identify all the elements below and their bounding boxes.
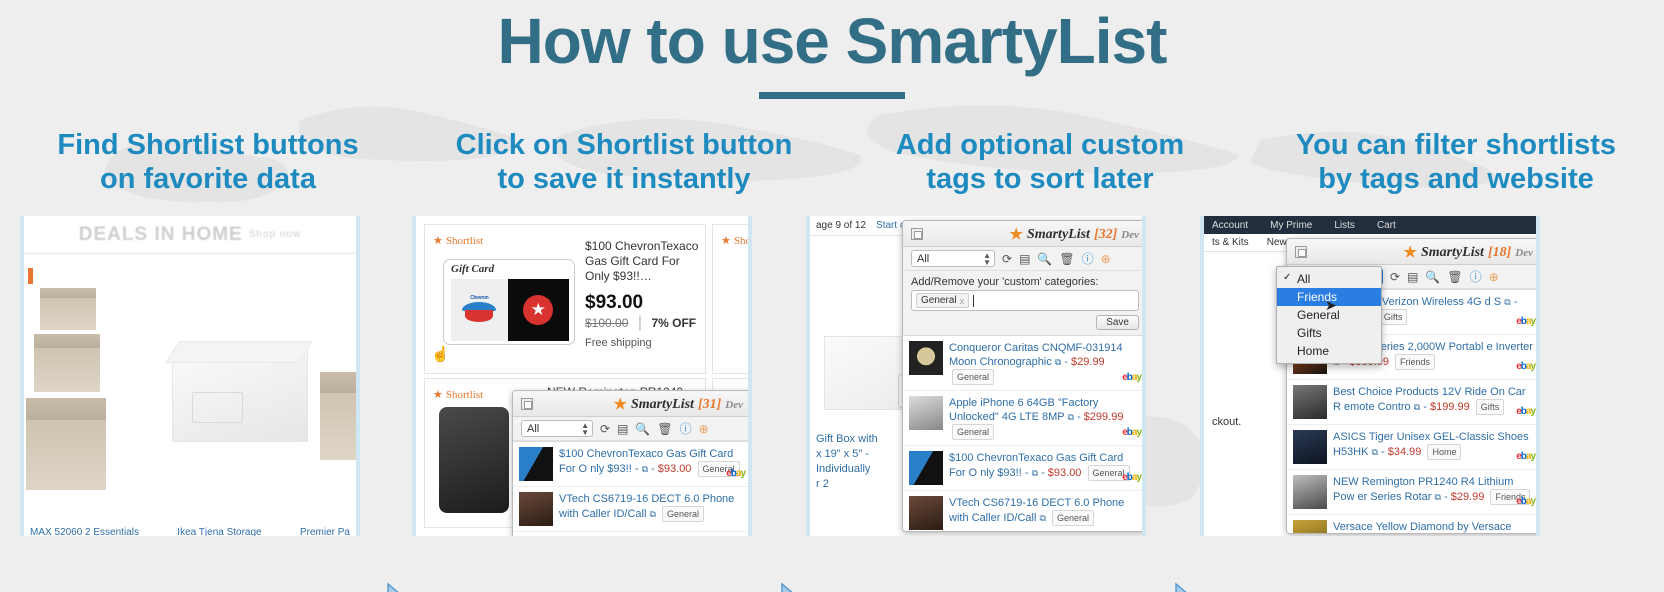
item-category: Gifts bbox=[1476, 399, 1505, 415]
brand-count: [18] bbox=[1488, 245, 1511, 261]
star-icon: ★ bbox=[1403, 243, 1416, 262]
external-link-icon[interactable]: ⧉ bbox=[1039, 513, 1045, 523]
close-icon[interactable]: x bbox=[960, 296, 965, 306]
trash-icon[interactable]: 🗑 bbox=[1447, 270, 1462, 284]
dropdown-item-home[interactable]: Home bbox=[1277, 342, 1381, 360]
shortlist-label: Shortlist bbox=[446, 389, 483, 401]
product-labels: MAX 52060 2 Essentials Ikea Tjena Storag… bbox=[24, 527, 356, 536]
star-icon: ★ bbox=[721, 234, 731, 247]
item-thumbnail bbox=[1293, 430, 1327, 464]
item-title-line2: H53HK bbox=[1333, 446, 1368, 458]
star-icon: ★ bbox=[433, 234, 443, 247]
step-2-line1: Click on Shortlist button bbox=[456, 129, 793, 161]
item-price: $34.99 bbox=[1388, 446, 1422, 458]
dropdown-label: All bbox=[1297, 272, 1310, 286]
external-link-icon[interactable]: ⧉ bbox=[1055, 357, 1061, 367]
refresh-icon[interactable]: ⟳ bbox=[600, 422, 610, 436]
category-filter-select[interactable]: All ▲▼ bbox=[521, 420, 593, 437]
check-icon: ✓ bbox=[1283, 272, 1291, 283]
item-category: General bbox=[1052, 510, 1094, 526]
brand-dev-tag: Dev bbox=[1121, 229, 1139, 241]
refresh-icon[interactable]: ⟳ bbox=[1002, 252, 1012, 266]
star-icon: ★ bbox=[613, 395, 626, 414]
item-title-line2: Caller ID/Call bbox=[972, 512, 1037, 524]
ebay-logo: ebay bbox=[1516, 496, 1535, 507]
panel3-description: Gift Box with x 19" x 5" - Individually … bbox=[816, 432, 878, 492]
item-title-line1: Versace Yellow Diamond by Versace 0.17 bbox=[1333, 521, 1512, 534]
filter-value: All bbox=[527, 423, 539, 435]
brand-count: [31] bbox=[698, 397, 721, 413]
shortlist-button-3[interactable]: ★ Shortlist bbox=[433, 385, 483, 403]
page-title: How to use SmartyList bbox=[0, 4, 1664, 78]
item-thumbnail bbox=[909, 496, 943, 530]
shortlist-button-2[interactable]: ★ Shortlist bbox=[721, 231, 752, 249]
list-item[interactable]: $100 ChevronTexaco Gas Gift Card For O n… bbox=[513, 442, 751, 487]
window-restore-icon[interactable] bbox=[911, 228, 923, 240]
list-item[interactable]: Conqueror Caritas CNQMF-031914 Moon Chro… bbox=[903, 336, 1146, 391]
external-link-icon[interactable]: ⧉ bbox=[1032, 468, 1038, 478]
item-price: $29.99 bbox=[1451, 491, 1485, 503]
listing-card-1: ★ Shortlist Gift Card Chevron bbox=[424, 224, 706, 374]
item-thumbnail bbox=[519, 492, 553, 526]
subnav-kits[interactable]: ts & Kits bbox=[1212, 237, 1249, 248]
item-price: $93.00 bbox=[1048, 467, 1082, 479]
banner-cta: Shop now bbox=[249, 229, 301, 240]
nav-lists[interactable]: Lists bbox=[1334, 220, 1355, 231]
gift-card-label: Gift Card bbox=[444, 260, 574, 275]
ebay-logo: ebay bbox=[1122, 427, 1141, 438]
brand-name: SmartyList bbox=[1027, 227, 1090, 243]
list-item[interactable]: NEW Remington PR1240 R4 Lithium Pow er S… bbox=[1287, 470, 1540, 515]
chevron-updown-icon: ▲▼ bbox=[581, 422, 589, 436]
brand-name: SmartyList bbox=[631, 397, 694, 413]
external-link-icon[interactable]: ⧉ bbox=[1067, 412, 1073, 422]
shaver-image bbox=[439, 407, 509, 513]
listing-discount: 7% OFF bbox=[651, 316, 696, 330]
star-icon: ★ bbox=[1009, 225, 1022, 244]
item-thumbnail bbox=[909, 451, 943, 485]
item-price: $93.00 bbox=[658, 463, 692, 475]
list-item[interactable]: Canon EOS Rebel T5 Digital SLR Camer bbox=[513, 532, 751, 536]
texaco-logo: ★ bbox=[508, 279, 569, 341]
popup-toolbar: All ▲▼ ⟳ ▤ 🔍 🗑 ⓘ ⊕ bbox=[513, 417, 751, 441]
smartylist-brand: ★ SmartyList[32] Dev bbox=[1009, 225, 1139, 244]
custom-categories-note: Add/Remove your 'custom' categories: bbox=[903, 271, 1146, 290]
store-banner: DEALS IN HOME Shop now bbox=[24, 216, 356, 254]
desc-line-4: r 2 bbox=[816, 477, 878, 492]
nav-account[interactable]: Account bbox=[1212, 220, 1248, 231]
item-price: $199.99 bbox=[1430, 401, 1470, 413]
item-title-line2: Caller ID/Call bbox=[582, 508, 647, 520]
step-heading-4: You can filter shortlists by tags and we… bbox=[1248, 128, 1664, 204]
item-category: General bbox=[952, 424, 994, 440]
list-item[interactable]: ASICS Tiger Unisex GEL-Classic Shoes H53… bbox=[1287, 425, 1540, 470]
title-divider bbox=[759, 92, 905, 99]
item-thumbnail bbox=[1293, 475, 1327, 509]
dropdown-item-all[interactable]: ✓ All bbox=[1277, 270, 1381, 288]
item-title-line2: nly $93!! - bbox=[590, 463, 638, 475]
ebay-logo: ebay bbox=[1122, 472, 1141, 483]
brand-count: [32] bbox=[1094, 227, 1117, 243]
step-heading-3: Add optional custom tags to sort later bbox=[832, 128, 1248, 204]
search-icon[interactable]: 🔍 bbox=[635, 422, 650, 436]
smartylist-brand: ★ SmartyList[31] Dev bbox=[613, 395, 743, 414]
nav-my-prime[interactable]: My Prime bbox=[1270, 220, 1312, 231]
brand-name: SmartyList bbox=[1421, 245, 1484, 261]
product-label-2: Ikea Tjena Storage bbox=[177, 527, 261, 536]
item-thumbnail bbox=[909, 341, 943, 375]
step-2-line2: to save it instantly bbox=[416, 162, 832, 196]
item-price: $299.99 bbox=[1084, 411, 1124, 423]
notes-icon[interactable]: ▤ bbox=[617, 422, 628, 436]
window-restore-icon[interactable] bbox=[521, 398, 533, 410]
step-4-line1: You can filter shortlists bbox=[1296, 129, 1616, 161]
item-title-line2: 4G LTE 8MP bbox=[1002, 411, 1065, 423]
step-3-line2: tags to sort later bbox=[832, 162, 1248, 196]
external-link-icon[interactable]: ⧉ bbox=[642, 464, 648, 474]
checkout-text: ckout. bbox=[1212, 416, 1241, 428]
item-title-line2: Chronographic bbox=[980, 356, 1052, 368]
popup-header: ★ SmartyList[18] Dev bbox=[1287, 239, 1540, 265]
smartylist-brand: ★ SmartyList[18] Dev bbox=[1403, 243, 1533, 262]
info-icon[interactable]: ⓘ bbox=[680, 420, 692, 437]
notes-icon[interactable]: ▤ bbox=[1019, 252, 1030, 266]
subnav-new[interactable]: New bbox=[1267, 237, 1287, 248]
shortlist-label: Shortlist bbox=[446, 235, 483, 247]
step-1-line2: on favorite data bbox=[0, 162, 416, 196]
item-thumbnail bbox=[1293, 385, 1327, 419]
panel-4-screenshot: Account My Prime Lists Cart ts & Kits Ne… bbox=[1200, 216, 1540, 536]
step-headings: Find Shortlist buttons on favorite data … bbox=[0, 128, 1664, 204]
ebay-logo: ebay bbox=[1122, 372, 1141, 383]
step-3-line1: Add optional custom bbox=[896, 129, 1184, 161]
dropdown-item-gifts[interactable]: Gifts bbox=[1277, 324, 1381, 342]
add-icon[interactable]: ⊕ bbox=[1489, 270, 1499, 284]
panel-3-screenshot: age 9 of 12 Start o ❯ Gift Box with x 19… bbox=[806, 216, 1146, 536]
search-icon[interactable]: 🔍 bbox=[1425, 270, 1440, 284]
product-images bbox=[24, 276, 356, 508]
item-category: General bbox=[952, 369, 994, 385]
chevron-logo: Chevron bbox=[451, 279, 508, 341]
item-title-line2: er Series Rotar bbox=[1357, 491, 1431, 503]
chevron-updown-icon: ▲▼ bbox=[983, 252, 991, 266]
dropdown-label: Gifts bbox=[1297, 326, 1322, 340]
window-restore-icon[interactable] bbox=[1295, 246, 1307, 258]
item-thumbnail bbox=[1293, 520, 1327, 534]
item-category: General bbox=[662, 506, 704, 522]
screenshot-panels: DEALS IN HOME Shop now bbox=[0, 216, 1664, 536]
popup-header: ★ SmartyList[32] Dev bbox=[903, 221, 1146, 247]
info-icon[interactable]: ⓘ bbox=[1082, 250, 1094, 267]
item-category: Gifts bbox=[1379, 309, 1408, 325]
panel-1-screenshot: DEALS IN HOME Shop now bbox=[20, 216, 360, 536]
item-title-line2: e Inverter bbox=[1486, 341, 1532, 353]
box-thumb-1 bbox=[40, 288, 96, 330]
trash-icon[interactable]: 🗑 bbox=[1059, 252, 1074, 266]
smartylist-popup-32: ★ SmartyList[32] Dev All ▲▼ ⟳ ▤ 🔍 🗑 ⓘ ⊕ bbox=[902, 220, 1146, 532]
shortlist-button-1[interactable]: ★ Shortlist bbox=[433, 231, 483, 249]
gift-card-image: Gift Card Chevron ★ bbox=[443, 259, 575, 345]
cursor-icon: ➤ bbox=[1325, 297, 1337, 314]
popup-header: ★ SmartyList[31] Dev bbox=[513, 391, 751, 417]
list-item[interactable]: Best Choice Products 12V Ride On Car R e… bbox=[1287, 380, 1540, 425]
item-category: Friends bbox=[1395, 354, 1435, 370]
item-title-line2: nly $93!! - bbox=[980, 467, 1028, 479]
chevron-wordmark: Chevron bbox=[460, 295, 498, 300]
white-storage-box bbox=[172, 350, 308, 442]
ebay-logo: ebay bbox=[1516, 361, 1535, 372]
cursor-icon: ☝ bbox=[431, 345, 450, 363]
listing-shipping: Free shipping bbox=[585, 337, 699, 349]
panel-2-screenshot: ★ Shortlist Gift Card Chevron bbox=[412, 216, 752, 536]
step-heading-1: Find Shortlist buttons on favorite data bbox=[0, 128, 416, 204]
listing-price: $93.00 bbox=[585, 292, 699, 314]
popup-toolbar: All ▲▼ ⟳ ▤ 🔍 🗑 ⓘ ⊕ bbox=[903, 247, 1146, 271]
page-indicator: age 9 of 12 bbox=[816, 220, 866, 231]
popup-list: $100 ChevronTexaco Gas Gift Card For O n… bbox=[513, 441, 751, 536]
item-title-line2: d S bbox=[1485, 296, 1502, 308]
desc-line-2: x 19" x 5" - bbox=[816, 447, 878, 462]
filter-value: All bbox=[917, 253, 929, 265]
external-link-icon[interactable]: ⧉ bbox=[1504, 297, 1510, 307]
arrow-connector-1 bbox=[362, 582, 408, 592]
nav-cart[interactable]: Cart bbox=[1377, 220, 1396, 231]
brand-dev-tag: Dev bbox=[1515, 247, 1533, 259]
trash-icon[interactable]: 🗑 bbox=[657, 422, 672, 436]
ebay-logo: ebay bbox=[1516, 451, 1535, 462]
info-icon[interactable]: ⓘ bbox=[1470, 268, 1482, 285]
item-price: $29.99 bbox=[1071, 356, 1105, 368]
category-tag-input[interactable]: General x bbox=[911, 290, 1139, 311]
list-item[interactable]: $100 ChevronTexaco Gas Gift Card For O n… bbox=[903, 446, 1146, 491]
product-label-1: MAX 52060 2 Essentials bbox=[30, 527, 139, 536]
desc-line-1: Gift Box with bbox=[816, 432, 878, 447]
ebay-logo: ebay bbox=[726, 468, 745, 479]
list-item[interactable]: VTech CS6719-16 DECT 6.0 Phone with Call… bbox=[513, 487, 751, 532]
listing-card-2: ★ Shortlist bbox=[712, 224, 752, 374]
infographic-page: How to use SmartyList Find Shortlist but… bbox=[0, 0, 1664, 592]
item-category: Home bbox=[1427, 444, 1461, 460]
popup-list: Conqueror Caritas CNQMF-031914 Moon Chro… bbox=[903, 335, 1146, 532]
item-title-line2: emote Contro bbox=[1344, 401, 1411, 413]
arrow-connector-3 bbox=[1150, 582, 1196, 592]
search-icon[interactable]: 🔍 bbox=[1037, 252, 1052, 266]
list-item[interactable]: Apple iPhone 6 64GB "Factory Unlocked" 4… bbox=[903, 391, 1146, 446]
box-thumb-4 bbox=[320, 372, 360, 460]
star-icon: ★ bbox=[433, 388, 443, 401]
desc-line-3: Individually bbox=[816, 462, 878, 477]
step-heading-2: Click on Shortlist button to save it ins… bbox=[416, 128, 832, 204]
tag-label: General bbox=[921, 295, 957, 306]
price-separator: | bbox=[638, 314, 642, 331]
box-thumb-3 bbox=[26, 398, 106, 490]
arrow-connector-2 bbox=[756, 582, 802, 592]
ebay-logo: ebay bbox=[1516, 316, 1535, 327]
step-1-line1: Find Shortlist buttons bbox=[57, 129, 358, 161]
listing-title: $100 ChevronTexaco Gas Gift Card For Onl… bbox=[585, 239, 699, 284]
dropdown-label: Home bbox=[1297, 344, 1329, 358]
category-filter-select[interactable]: All ▲▼ bbox=[911, 250, 995, 267]
save-button[interactable]: Save bbox=[1096, 315, 1139, 330]
external-link-icon[interactable]: ⧉ bbox=[1372, 447, 1378, 457]
listing-was-price: $100.00 bbox=[585, 316, 628, 330]
step-4-line2: by tags and website bbox=[1248, 162, 1664, 196]
list-item[interactable]: VTech CS6719-16 DECT 6.0 Phone with Call… bbox=[903, 491, 1146, 532]
banner-text: DEALS IN HOME bbox=[79, 224, 243, 246]
add-icon[interactable]: ⊕ bbox=[1101, 252, 1111, 266]
smartylist-popup-31: ★ SmartyList[31] Dev All ▲▼ ⟳ ▤ 🔍 🗑 ⓘ ⊕ bbox=[512, 390, 752, 536]
ebay-logo: ebay bbox=[1516, 406, 1535, 417]
external-link-icon[interactable]: ⧉ bbox=[649, 509, 655, 519]
item-title-line1: ASICS Tiger Unisex GEL-Classic Shoes bbox=[1333, 431, 1529, 443]
external-link-icon[interactable]: ⧉ bbox=[1414, 402, 1420, 412]
text-caret bbox=[973, 295, 974, 307]
item-thumbnail bbox=[519, 447, 553, 481]
product-label-3: Premier Pa bbox=[300, 527, 350, 536]
shortlist-label: Shortlist bbox=[734, 235, 752, 247]
item-thumbnail bbox=[909, 396, 943, 430]
add-icon[interactable]: ⊕ bbox=[699, 422, 709, 436]
external-link-icon[interactable]: ⧉ bbox=[1435, 492, 1441, 502]
notes-icon[interactable]: ▤ bbox=[1407, 270, 1418, 284]
refresh-icon[interactable]: ⟳ bbox=[1390, 270, 1400, 284]
category-tag: General x bbox=[916, 293, 969, 308]
box-thumb-2 bbox=[34, 334, 100, 392]
amazon-top-nav: Account My Prime Lists Cart bbox=[1204, 216, 1536, 234]
brand-dev-tag: Dev bbox=[725, 399, 743, 411]
category-dropdown-menu[interactable]: ✓ All Friends General Gifts Home ➤ bbox=[1276, 266, 1382, 364]
header: How to use SmartyList bbox=[0, 4, 1664, 99]
list-item[interactable]: Versace Yellow Diamond by Versace 0.17 o… bbox=[1287, 515, 1540, 534]
